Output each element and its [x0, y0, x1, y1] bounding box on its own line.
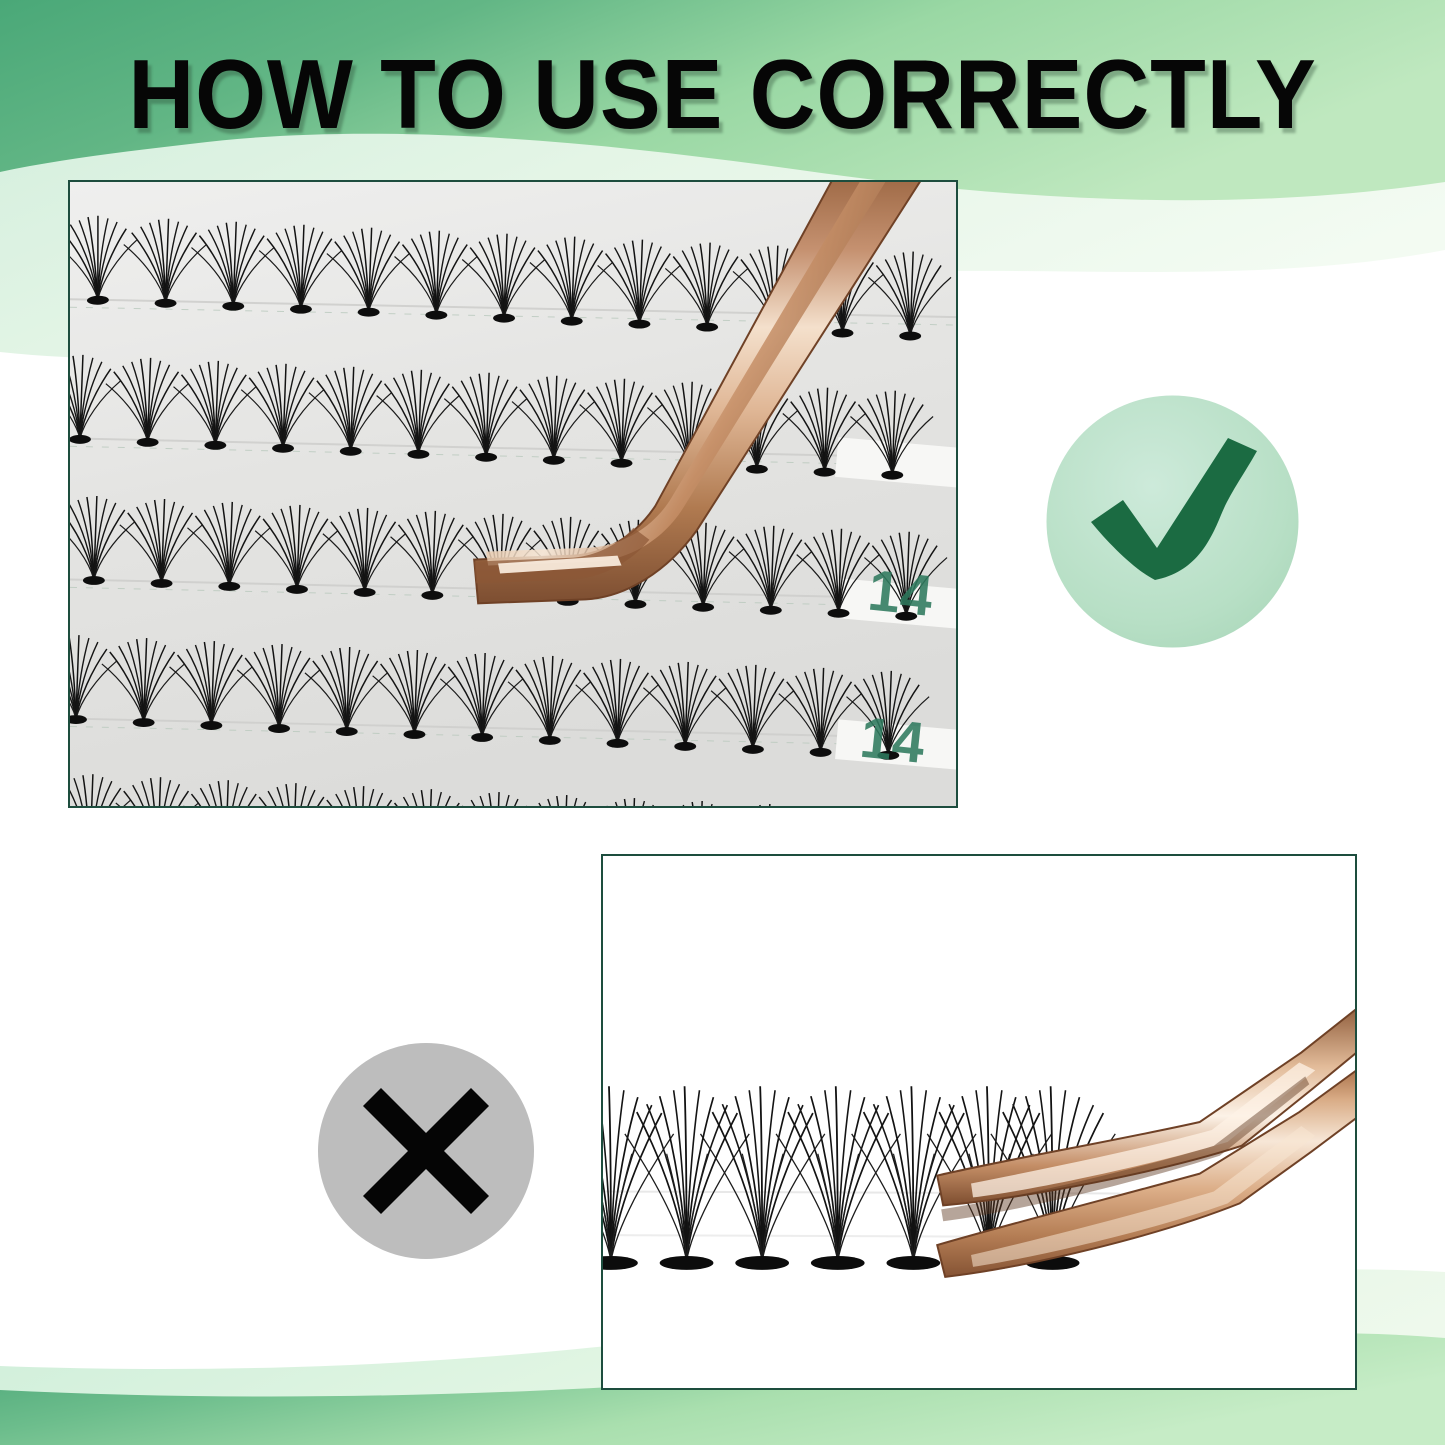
infographic-canvas: HOW TO USE CORRECTLY — [0, 0, 1445, 1445]
correct-usage-photo: 14 14 — [68, 180, 958, 808]
incorrect-usage-photo — [601, 854, 1357, 1390]
check-badge — [1045, 394, 1300, 649]
svg-text:14: 14 — [865, 559, 936, 629]
lash-side-view-illustration — [603, 856, 1355, 1388]
check-icon — [1045, 394, 1300, 649]
page-title: HOW TO USE CORRECTLY — [51, 46, 1395, 142]
lash-tray-closeup-illustration: 14 14 — [70, 182, 956, 806]
svg-text:14: 14 — [857, 706, 928, 776]
cross-badge — [317, 1042, 535, 1260]
close-icon — [317, 1042, 535, 1260]
